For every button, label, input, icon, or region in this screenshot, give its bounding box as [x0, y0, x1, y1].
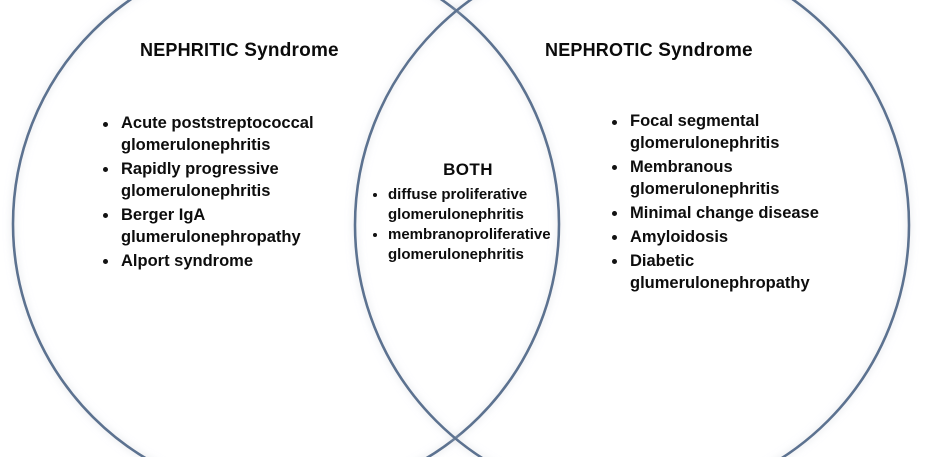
bullet-icon	[612, 165, 617, 170]
list-item-label: Amyloidosis	[630, 228, 728, 246]
right-set-title-rest: Syndrome	[658, 40, 753, 61]
right-set-title: Nephrotic Syndrome	[545, 40, 753, 62]
list-item: membranoproliferative glomerulonephritis	[372, 225, 564, 264]
bullet-icon	[373, 193, 377, 197]
list-item-label: Diabetic glumerulonephropathy	[630, 252, 810, 292]
right-set-title-smallcaps: Nephrotic	[545, 40, 653, 60]
left-set-title-rest: Syndrome	[244, 40, 339, 61]
list-item-label: Acute poststreptococcal glomerulonephrit…	[121, 114, 314, 154]
bullet-icon	[612, 120, 617, 125]
left-set-title: Nephritic Syndrome	[140, 40, 339, 62]
list-item-label: Rapidly progressive glomerulonephritis	[121, 160, 279, 200]
list-item-label: Alport syndrome	[121, 252, 253, 270]
list-item-label: Minimal change disease	[630, 204, 819, 222]
bullet-icon	[612, 259, 617, 264]
list-item: Alport syndrome	[101, 251, 346, 273]
left-set-list-container: Acute poststreptococcal glomerulonephrit…	[101, 113, 346, 275]
list-item: diffuse proliferative glomerulonephritis	[372, 185, 564, 224]
list-item: Diabetic glumerulonephropathy	[610, 251, 860, 295]
bullet-icon	[103, 122, 108, 127]
intersection-heading: BOTH	[372, 160, 564, 180]
bullet-icon	[612, 235, 617, 240]
list-item-label: Membranous glomerulonephritis	[630, 158, 779, 198]
right-set-list: Focal segmental glomerulonephritis Membr…	[610, 111, 860, 295]
list-item-label: Berger IgA glumerulonephropathy	[121, 206, 301, 246]
list-item: Amyloidosis	[610, 227, 860, 249]
intersection-container: BOTH diffuse proliferative glomeruloneph…	[372, 160, 564, 265]
bullet-icon	[103, 259, 108, 264]
list-item: Membranous glomerulonephritis	[610, 157, 860, 201]
right-set-list-container: Focal segmental glomerulonephritis Membr…	[610, 111, 860, 297]
list-item-label: diffuse proliferative glomerulonephritis	[388, 186, 527, 223]
list-item-label: Focal segmental glomerulonephritis	[630, 112, 779, 152]
list-item: Focal segmental glomerulonephritis	[610, 111, 860, 155]
list-item: Minimal change disease	[610, 203, 860, 225]
left-set-title-smallcaps: Nephritic	[140, 40, 239, 60]
bullet-icon	[103, 213, 108, 218]
left-set-list: Acute poststreptococcal glomerulonephrit…	[101, 113, 346, 273]
bullet-icon	[612, 211, 617, 216]
intersection-list: diffuse proliferative glomerulonephritis…	[372, 185, 564, 264]
list-item: Rapidly progressive glomerulonephritis	[101, 159, 346, 203]
bullet-icon	[103, 167, 108, 172]
bullet-icon	[373, 233, 377, 237]
venn-diagram: Nephritic Syndrome Nephrotic Syndrome Ac…	[0, 0, 926, 457]
list-item-label: membranoproliferative glomerulonephritis	[388, 226, 551, 263]
list-item: Berger IgA glumerulonephropathy	[101, 205, 346, 249]
list-item: Acute poststreptococcal glomerulonephrit…	[101, 113, 346, 157]
